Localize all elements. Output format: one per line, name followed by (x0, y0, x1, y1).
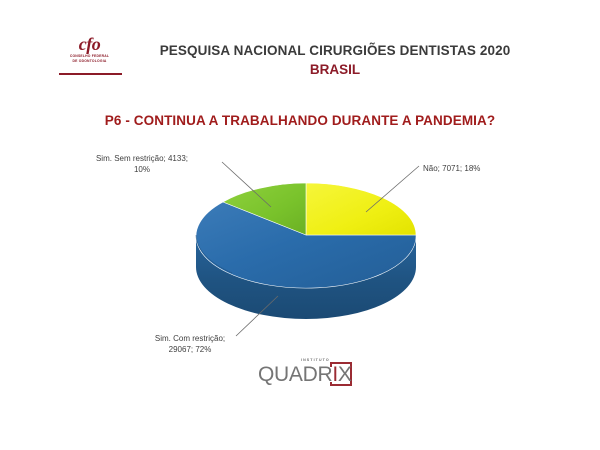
question-heading: P6 - CONTINUA A TRABALHANDO DURANTE A PA… (0, 113, 600, 128)
quadrix-logo-instituto: INSTITUTO (301, 358, 330, 362)
header-title-block: PESQUISA NACIONAL CIRURGIÕES DENTISTAS 2… (140, 42, 530, 78)
cfo-logo-subtitle-line2: DE ODONTOLOGIA (72, 59, 106, 63)
quadrix-logo-part3: X (338, 363, 352, 386)
cfo-logo-subtitle-line1: CONSELHO FEDERAL (70, 54, 109, 58)
slide-canvas: cfo CONSELHO FEDERAL DE ODONTOLOGIA PESQ… (0, 0, 600, 450)
data-label-sim-com-restricao-line2: 29067; 72% (124, 344, 256, 355)
data-label-sim-sem-restricao-line2: 10% (76, 164, 208, 175)
pie-slice-top-faces (196, 183, 416, 288)
quadrix-logo: INSTITUTO QUADRIX (258, 358, 354, 388)
pie-slice-nao[interactable] (306, 183, 416, 235)
cfo-logo-wordmark: cfo (79, 35, 100, 53)
page-subtitle: BRASIL (140, 61, 530, 78)
data-label-sim-sem-restricao-line1: Sim. Sem restrição; 4133; (76, 153, 208, 164)
cfo-logo-underline (59, 73, 122, 75)
data-label-sim-com-restricao: Sim. Com restrição; 29067; 72% (124, 333, 256, 355)
data-label-sim-sem-restricao: Sim. Sem restrição; 4133; 10% (76, 153, 208, 175)
data-label-nao: Não; 7071; 18% (423, 163, 480, 174)
page-title: PESQUISA NACIONAL CIRURGIÕES DENTISTAS 2… (140, 42, 530, 59)
data-label-nao-line1: Não; 7071; 18% (423, 163, 480, 174)
cfo-logo: cfo CONSELHO FEDERAL DE ODONTOLOGIA (61, 31, 118, 67)
data-label-sim-com-restricao-line1: Sim. Com restrição; (124, 333, 256, 344)
quadrix-logo-wordmark: QUADRIX (258, 364, 352, 386)
quadrix-logo-part1: QUADR (258, 363, 332, 386)
